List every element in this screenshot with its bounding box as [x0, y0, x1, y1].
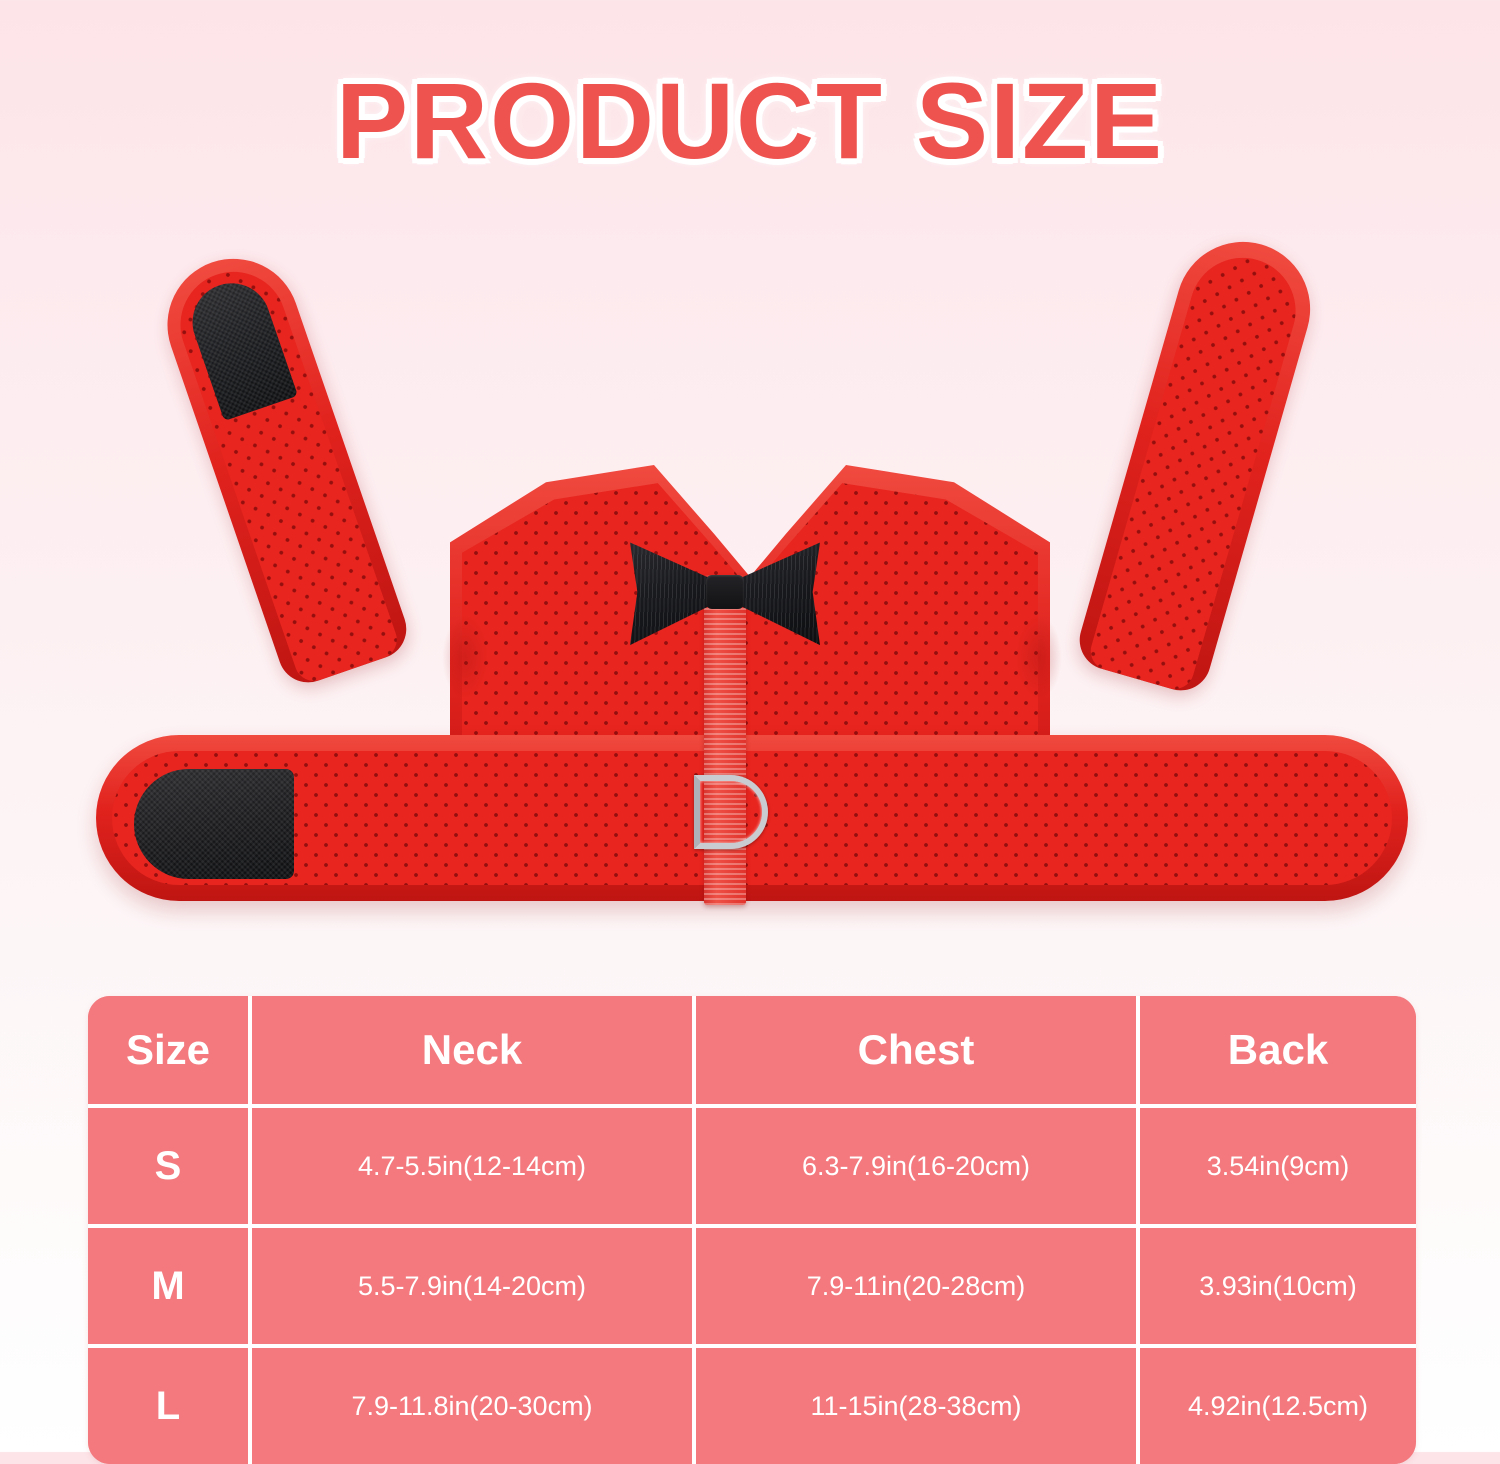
belly-band-velcro-patch [134, 769, 294, 879]
cell-size-s: S [88, 1108, 248, 1224]
table-row: M 5.5-7.9in(14-20cm) 7.9-11in(20-28cm) 3… [88, 1224, 1416, 1344]
cell-back-l: 4.92in(12.5cm) [1136, 1348, 1416, 1464]
right-shoulder-strap [1073, 226, 1326, 697]
left-shoulder-strap [150, 241, 415, 691]
cell-chest-l: 11-15in(28-38cm) [692, 1348, 1136, 1464]
column-header-size: Size [88, 996, 248, 1104]
left-side-notch [442, 615, 488, 699]
cell-chest-s: 6.3-7.9in(16-20cm) [692, 1108, 1136, 1224]
page-title-container: PRODUCT SIZE [0, 62, 1500, 181]
cell-neck-s: 4.7-5.5in(12-14cm) [248, 1108, 692, 1224]
cell-size-m: M [88, 1228, 248, 1344]
cell-chest-m: 7.9-11in(20-28cm) [692, 1228, 1136, 1344]
bow-tie-knot [706, 575, 744, 609]
cell-neck-m: 5.5-7.9in(14-20cm) [248, 1228, 692, 1344]
right-shoulder-strap-mesh [1086, 245, 1308, 693]
cell-size-l: L [88, 1348, 248, 1464]
page-title: PRODUCT SIZE [336, 62, 1164, 181]
cell-neck-l: 7.9-11.8in(20-30cm) [248, 1348, 692, 1464]
product-image [90, 215, 1410, 975]
column-header-chest: Chest [692, 996, 1136, 1104]
cell-back-m: 3.93in(10cm) [1136, 1228, 1416, 1344]
size-chart-table: Size Neck Chest Back S 4.7-5.5in(12-14cm… [88, 996, 1416, 1464]
table-header-row: Size Neck Chest Back [88, 996, 1416, 1104]
cell-back-s: 3.54in(9cm) [1136, 1108, 1416, 1224]
d-ring [694, 775, 768, 849]
right-side-notch [1016, 615, 1062, 699]
column-header-back: Back [1136, 996, 1416, 1104]
table-row: L 7.9-11.8in(20-30cm) 11-15in(28-38cm) 4… [88, 1344, 1416, 1464]
dog-harness-illustration [90, 215, 1410, 975]
bow-tie [630, 533, 820, 651]
column-header-neck: Neck [248, 996, 692, 1104]
table-row: S 4.7-5.5in(12-14cm) 6.3-7.9in(16-20cm) … [88, 1104, 1416, 1224]
